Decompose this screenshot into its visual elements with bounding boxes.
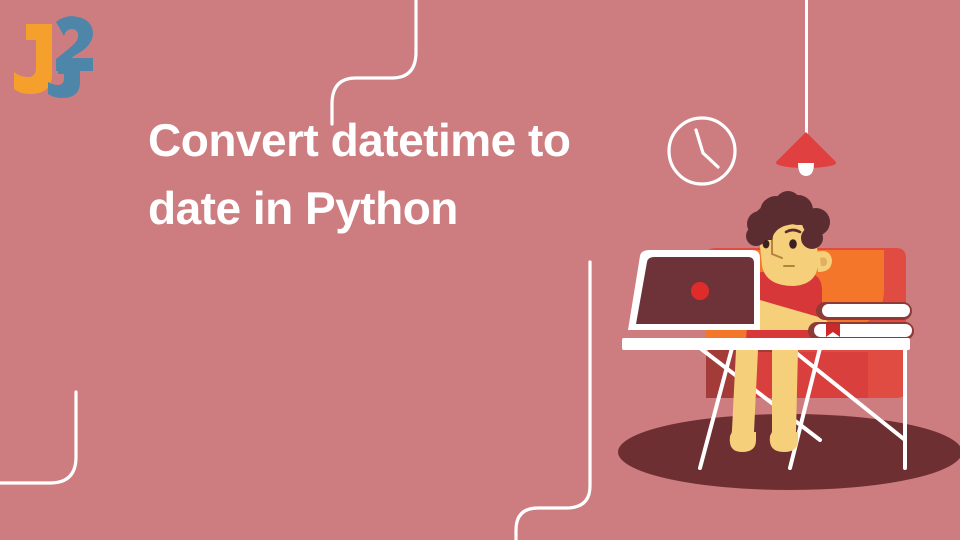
leg-right bbox=[772, 340, 798, 446]
illustration-person-at-laptop bbox=[0, 0, 960, 540]
laptop-logo bbox=[691, 282, 709, 300]
eye-right bbox=[789, 239, 797, 249]
ear-inner bbox=[820, 258, 827, 267]
logo-letter-j bbox=[14, 24, 52, 94]
foot-left bbox=[730, 432, 756, 452]
book-lower-pages bbox=[822, 304, 910, 317]
page-title: Convert datetime to date in Python bbox=[148, 106, 688, 242]
j2-logo[interactable] bbox=[8, 6, 104, 102]
desk-surface bbox=[622, 338, 910, 350]
logo-letter-j-blue bbox=[48, 62, 80, 98]
banner-root: Convert datetime to date in Python bbox=[0, 0, 960, 540]
foot-right bbox=[770, 432, 798, 452]
